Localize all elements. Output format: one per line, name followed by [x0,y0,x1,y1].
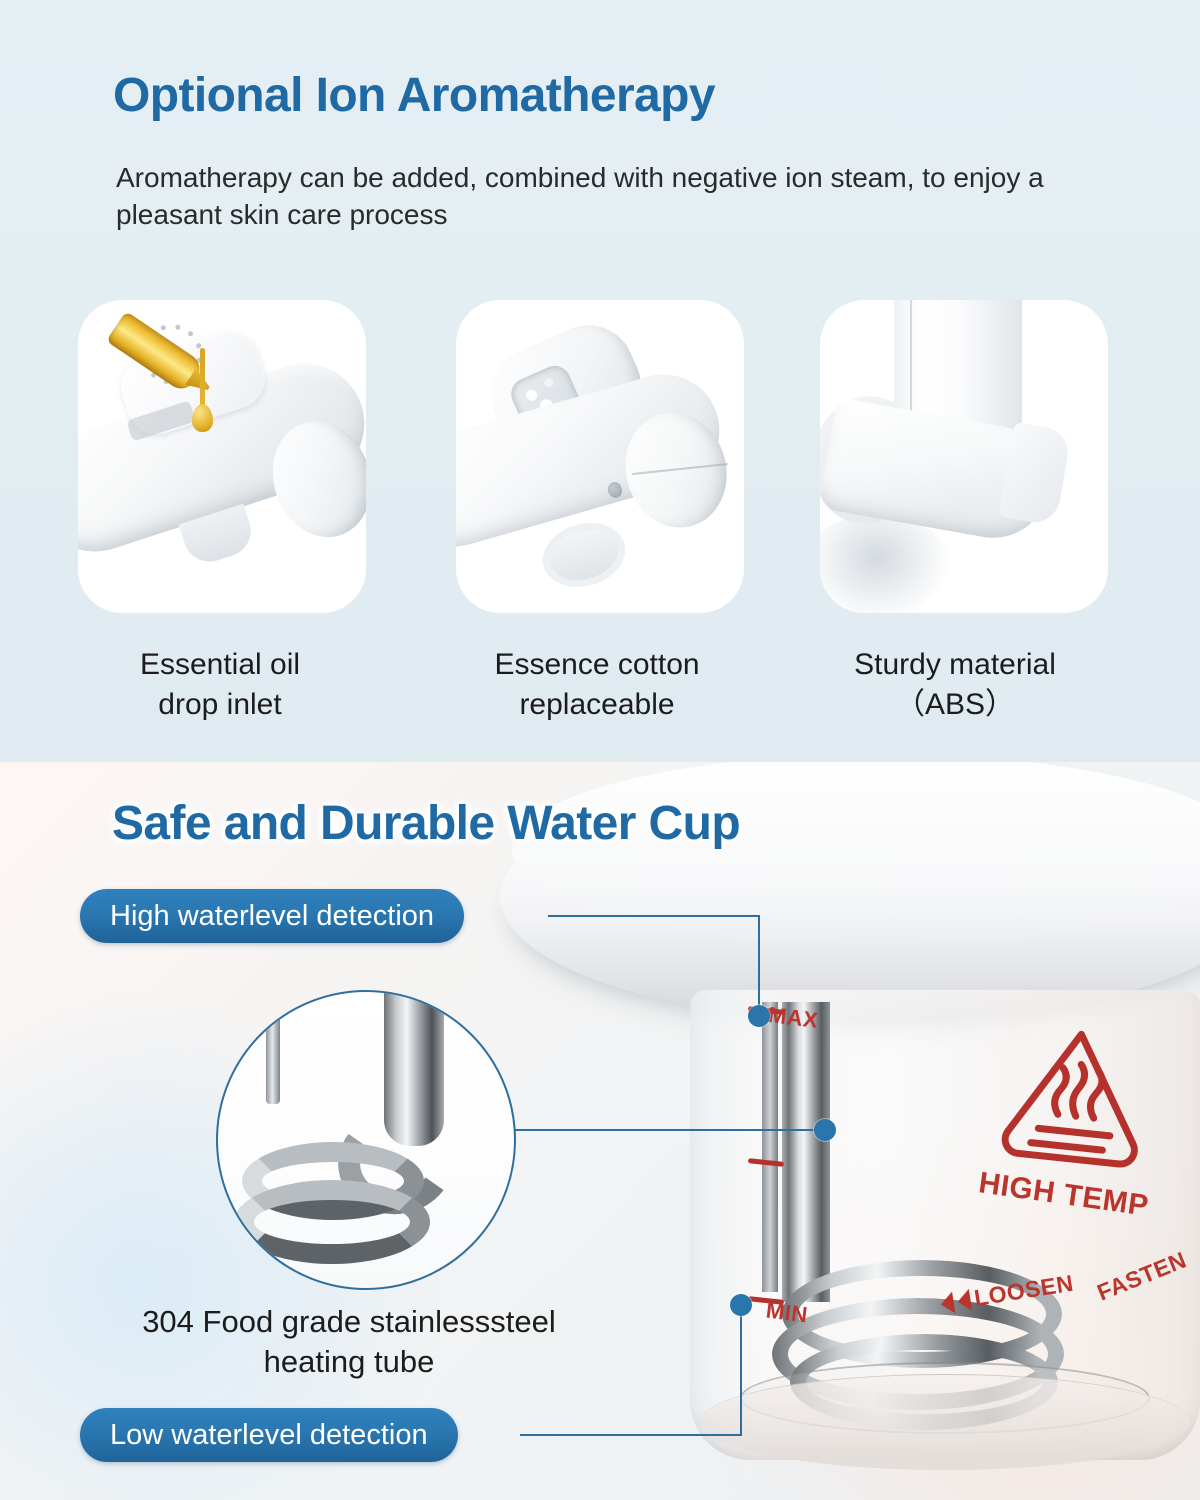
aromatherapy-section: Optional Ion Aromatherapy Aromatherapy c… [0,0,1200,762]
feature-caption-sturdy-material: Sturdy material （ABS） [790,645,1120,725]
aromatherapy-title: Optional Ion Aromatherapy [113,68,715,123]
feature-caption-essential-oil: Essential oil drop inlet [55,645,385,725]
water-cup-title: Safe and Durable Water Cup [112,796,740,851]
feature-card-row [0,300,1200,625]
feature-card-essential-oil [78,300,366,613]
feature-caption-row: Essential oil drop inlet Essence cotton … [0,645,1200,755]
essential-oil-dropper-photo [78,300,366,613]
nozzle-collar [535,514,633,597]
abs-joint-photo [820,300,1108,613]
connector-low-horizontal [520,1434,742,1436]
marker-dot-high [748,1005,770,1027]
marker-dot-low [730,1294,752,1316]
connector-high-vertical [758,915,760,1015]
inset-coil-2 [234,1180,430,1264]
callout-low-waterlevel: Low waterlevel detection [80,1408,458,1462]
inset-thin-pipe [266,998,280,1104]
min-label: MIN [765,1298,810,1329]
connector-mid-horizontal [512,1129,822,1131]
heating-tube-stem [782,1002,830,1302]
chevron-left-icon [956,1288,972,1312]
stainless-steel-caption: 304 Food grade stainlesssteel heating tu… [94,1302,604,1383]
cotton-pad-nozzle-photo [456,300,744,613]
connector-low-vertical [740,1305,742,1436]
feature-caption-essence-cotton: Essence cotton replaceable [432,645,762,725]
marker-dot-mid [814,1119,836,1141]
feature-card-sturdy-material [820,300,1108,613]
aromatherapy-subtitle: Aromatherapy can be added, combined with… [116,160,1076,234]
heating-tube-inset-photo [216,990,516,1290]
chevron-left-icon [939,1291,955,1315]
heating-tube-stem-back [762,1002,778,1292]
connector-high-horizontal [548,915,760,917]
cup-base [700,1374,1190,1470]
callout-high-waterlevel: High waterlevel detection [80,889,464,943]
oil-droplet [192,404,213,432]
high-temperature-warning-icon [993,1013,1158,1178]
joint-shadow [820,514,952,613]
feature-card-essence-cotton [456,300,744,613]
